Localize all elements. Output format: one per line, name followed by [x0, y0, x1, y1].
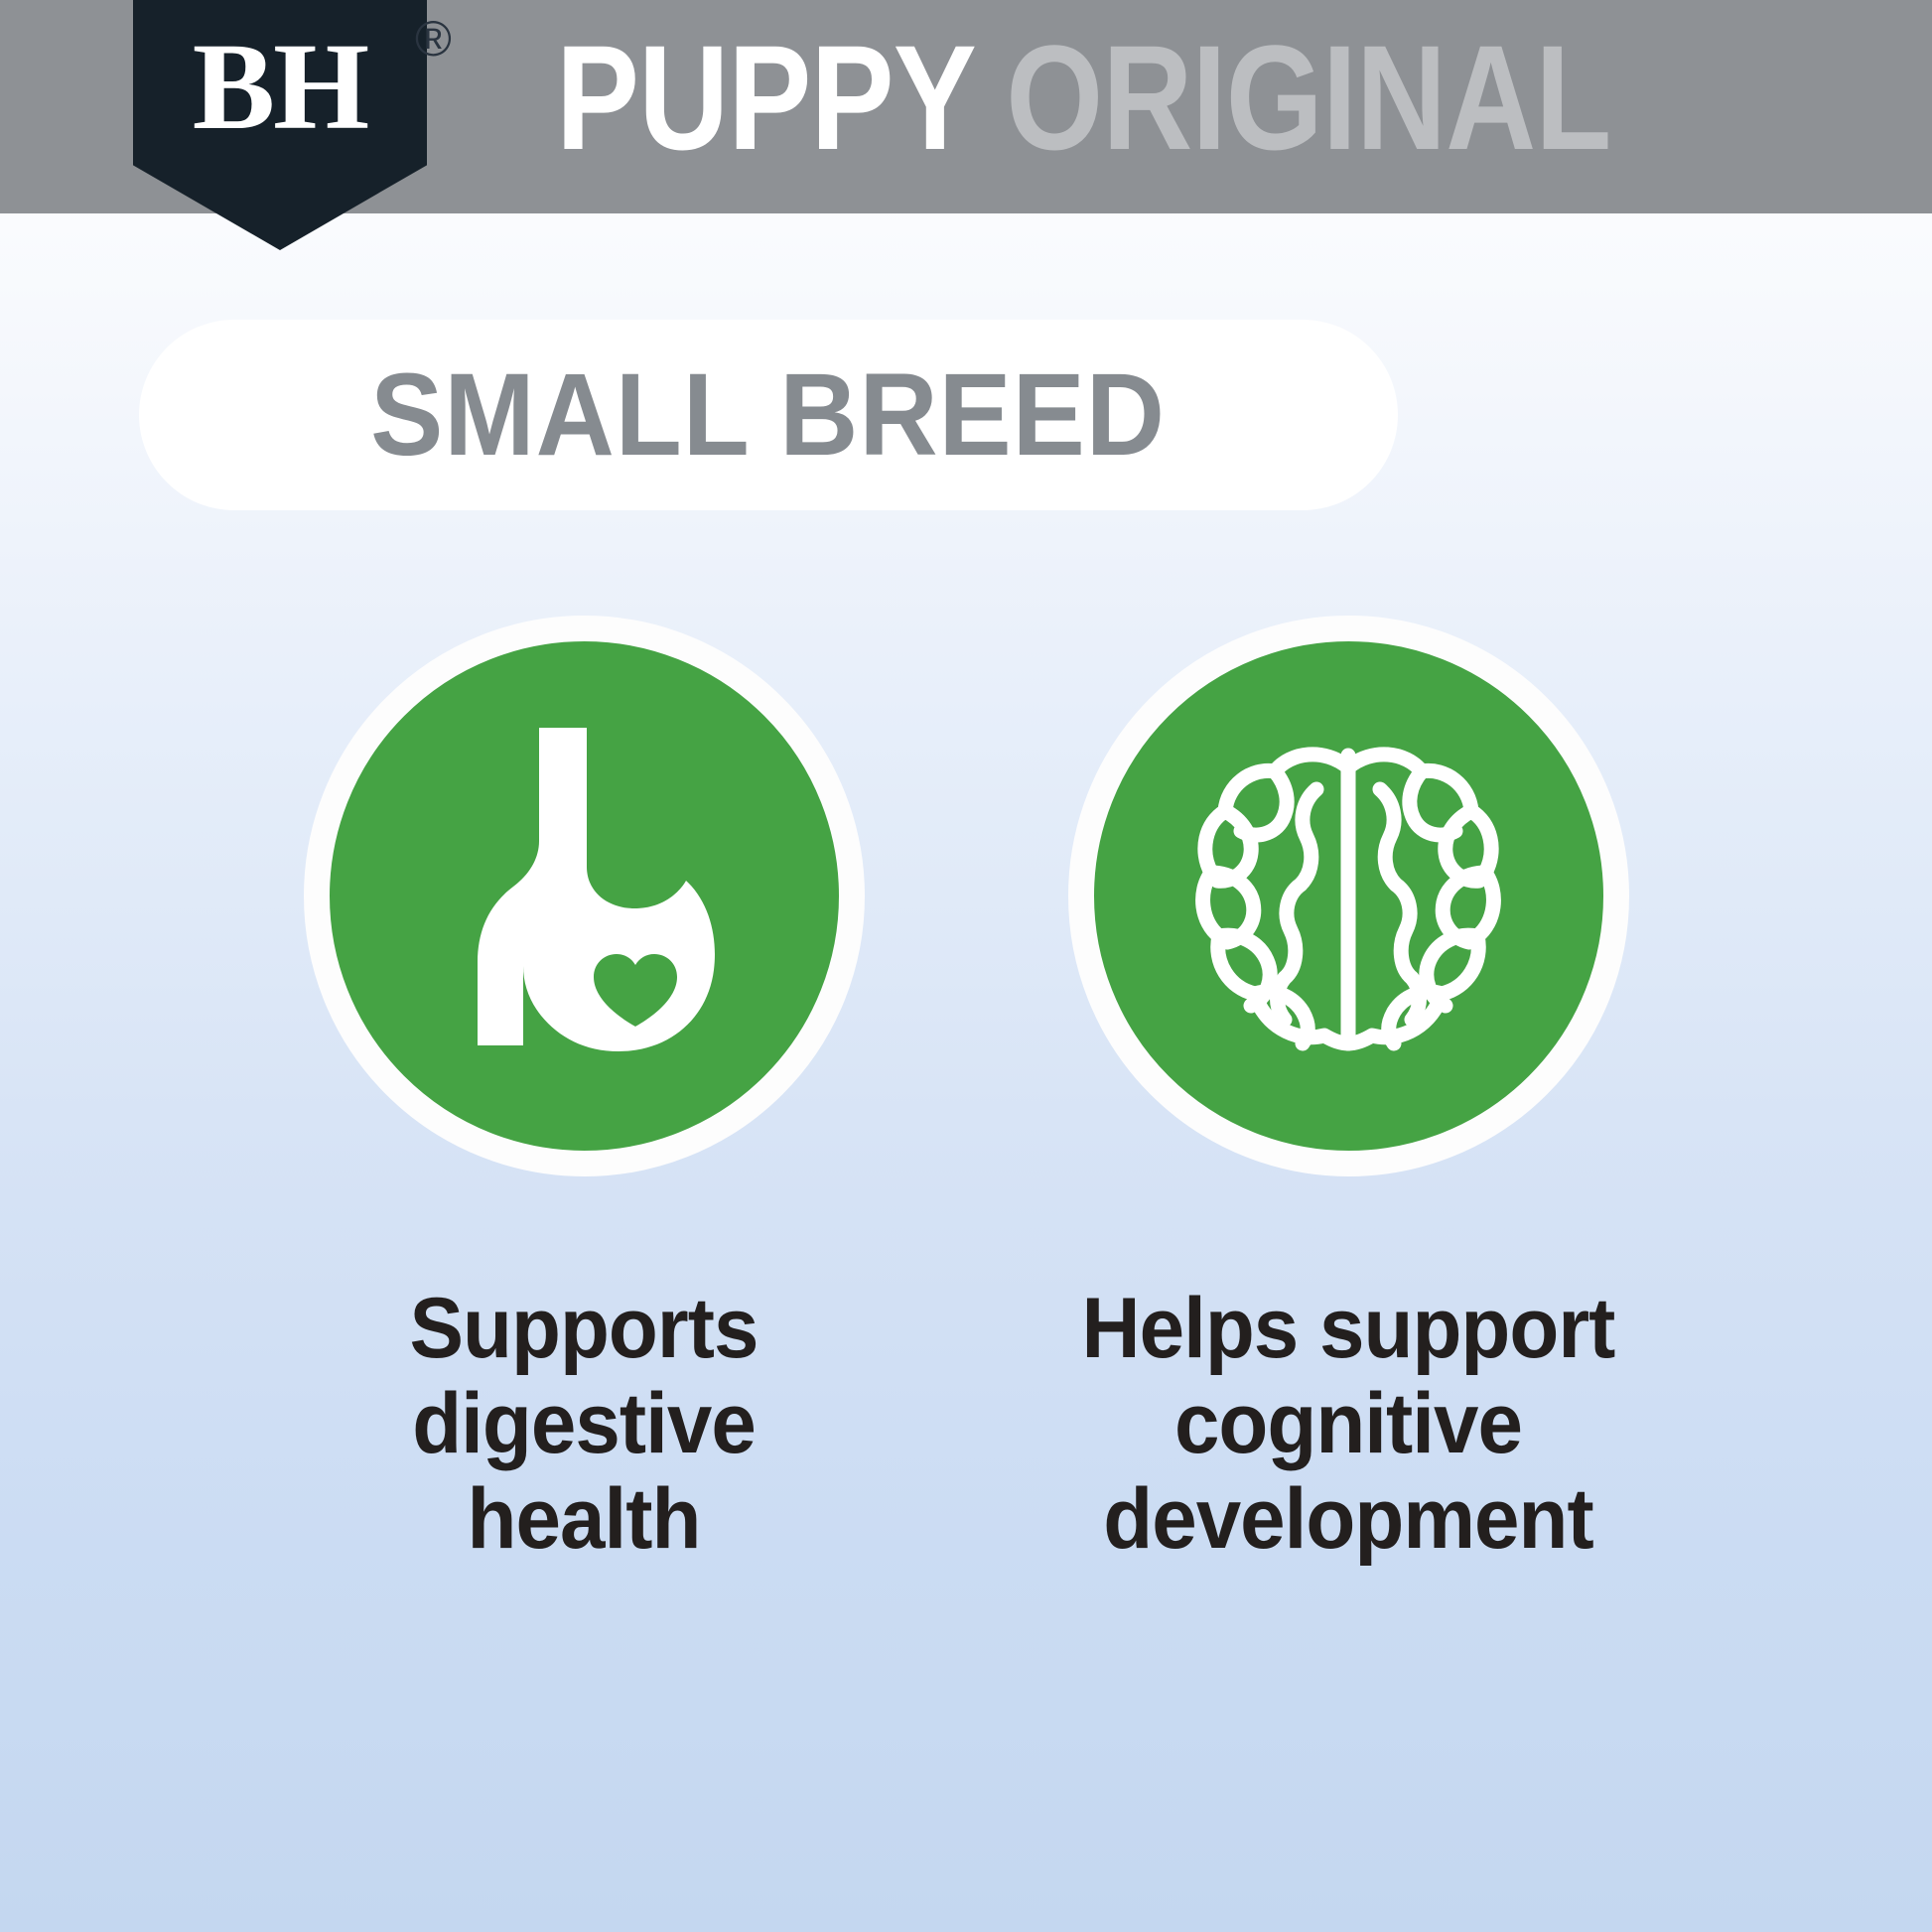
product-title: PUPPY ORIGINAL	[556, 18, 1610, 177]
product-feature-panel: PUPPY ORIGINAL BH ® SMALL BREED Supports…	[0, 0, 1932, 1932]
registered-trademark-icon: ®	[415, 14, 452, 64]
benefit-item-digestive: Supports digestive health	[276, 616, 892, 1567]
benefit-icon-circle	[1068, 616, 1629, 1176]
brain-icon	[1179, 728, 1517, 1065]
benefit-caption-digestive: Supports digestive health	[292, 1281, 877, 1567]
benefit-item-cognitive: Helps support cognitive development	[1040, 616, 1656, 1567]
benefit-icon-circle	[304, 616, 865, 1176]
product-title-secondary: ORIGINAL	[1006, 18, 1610, 177]
stomach-icon	[420, 718, 748, 1075]
brand-logo-text: BH	[133, 26, 427, 150]
benefit-caption-cognitive: Helps support cognitive development	[1056, 1281, 1641, 1567]
benefits-row: Supports digestive health	[0, 616, 1932, 1567]
breed-badge: SMALL BREED	[139, 320, 1398, 510]
breed-badge-label: SMALL BREED	[371, 356, 1167, 474]
product-title-primary: PUPPY	[556, 18, 976, 177]
